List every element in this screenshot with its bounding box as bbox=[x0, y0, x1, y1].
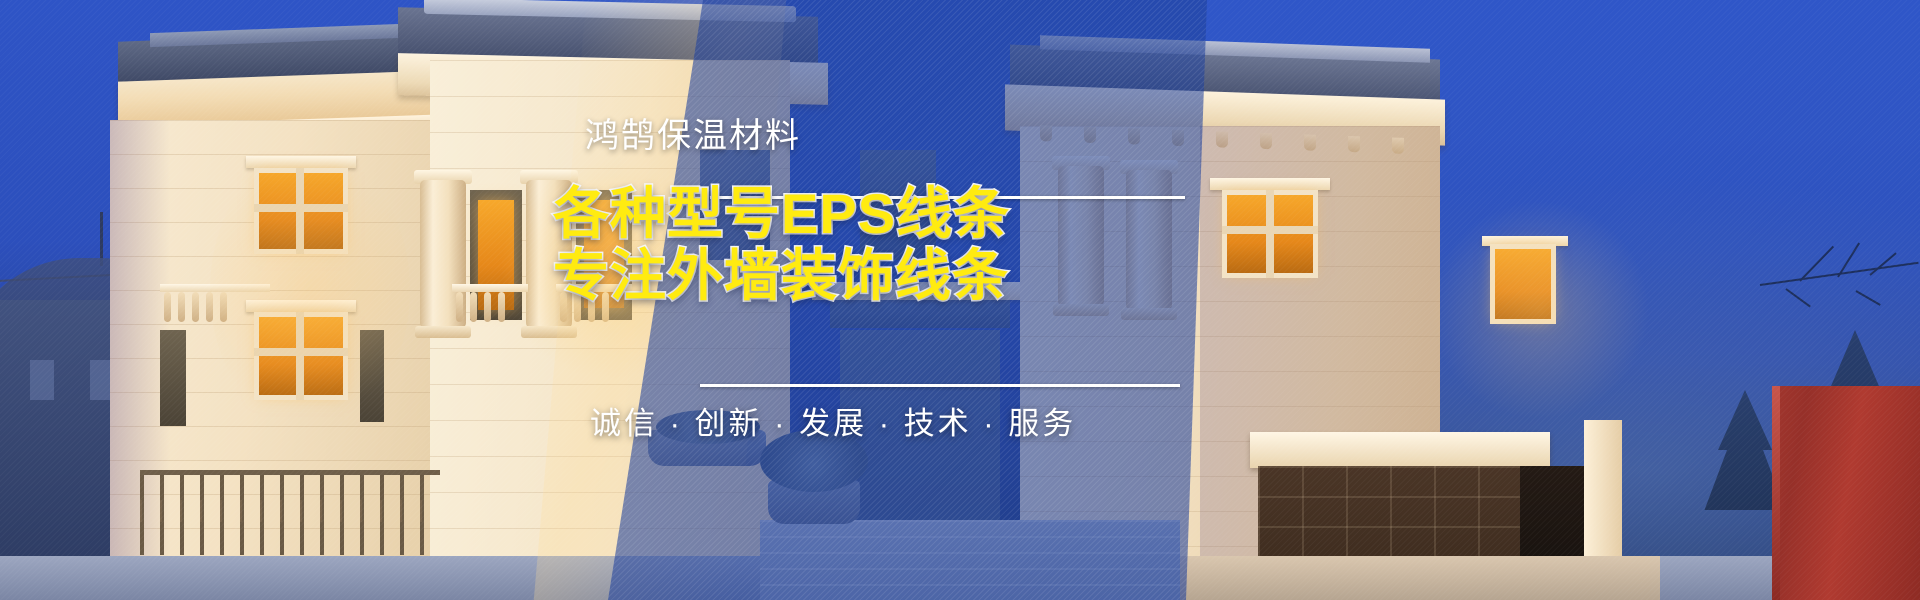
tagline: 诚信 · 创新 · 发展 · 技术 · 服务 bbox=[590, 398, 1076, 443]
headline-line-2: 专注外墙装饰线条 bbox=[553, 248, 1010, 304]
headline-line-1: 各种型号EPS线条 bbox=[553, 182, 1010, 245]
divider-bottom bbox=[700, 384, 1180, 387]
hero-banner: 鸿鹄保温材料 各种型号EPS线条 专注外墙装饰线条 诚信 · 创新 · 发展 ·… bbox=[0, 0, 1920, 600]
banner-copy: 鸿鹄保温材料 各种型号EPS线条 专注外墙装饰线条 诚信 · 创新 · 发展 ·… bbox=[0, 0, 1920, 600]
brand-name: 鸿鹄保温材料 bbox=[585, 108, 801, 157]
headline: 各种型号EPS线条 专注外墙装饰线条 bbox=[553, 186, 1010, 304]
